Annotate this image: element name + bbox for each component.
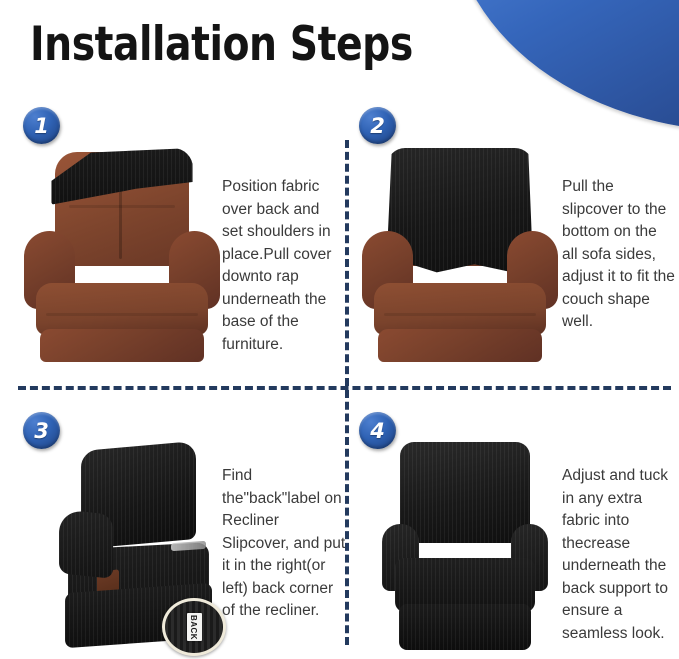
back-label-tag: BACK: [187, 613, 202, 641]
recliner-base: [40, 329, 205, 362]
covered-backrest-front: [400, 442, 529, 543]
step-3-text: Find the"back"label on Recliner Slipcove…: [222, 465, 346, 623]
back-label-magnifier-inset: BACK: [162, 598, 226, 656]
page-title: Installation Steps: [30, 16, 413, 74]
vertical-dashed-divider-top: [345, 140, 349, 386]
step-1-figure: [24, 148, 220, 366]
step-2-text: Pull the slipcover to the bottom on the …: [562, 176, 676, 334]
step-badge-2: 2: [359, 107, 396, 144]
step-1-text: Position fabric over back and set should…: [222, 176, 342, 356]
step-4-text: Adjust and tuck in any extra fabric into…: [562, 465, 676, 645]
recliner-seat: [374, 283, 546, 335]
step-3-figure: BACK: [62, 440, 222, 652]
back-label-text: BACK: [190, 614, 199, 639]
step-badge-1: 1: [23, 107, 60, 144]
infographic-page: Installation Steps 1 Position fabric ove…: [0, 0, 679, 659]
step-4-figure: [382, 440, 548, 650]
covered-base-front: [399, 604, 532, 650]
recliner-base: [378, 329, 543, 362]
step-badge-3: 3: [23, 412, 60, 449]
covered-arm-angled: [59, 509, 113, 578]
recliner-seat: [36, 283, 208, 335]
step-2-figure: [362, 148, 558, 366]
